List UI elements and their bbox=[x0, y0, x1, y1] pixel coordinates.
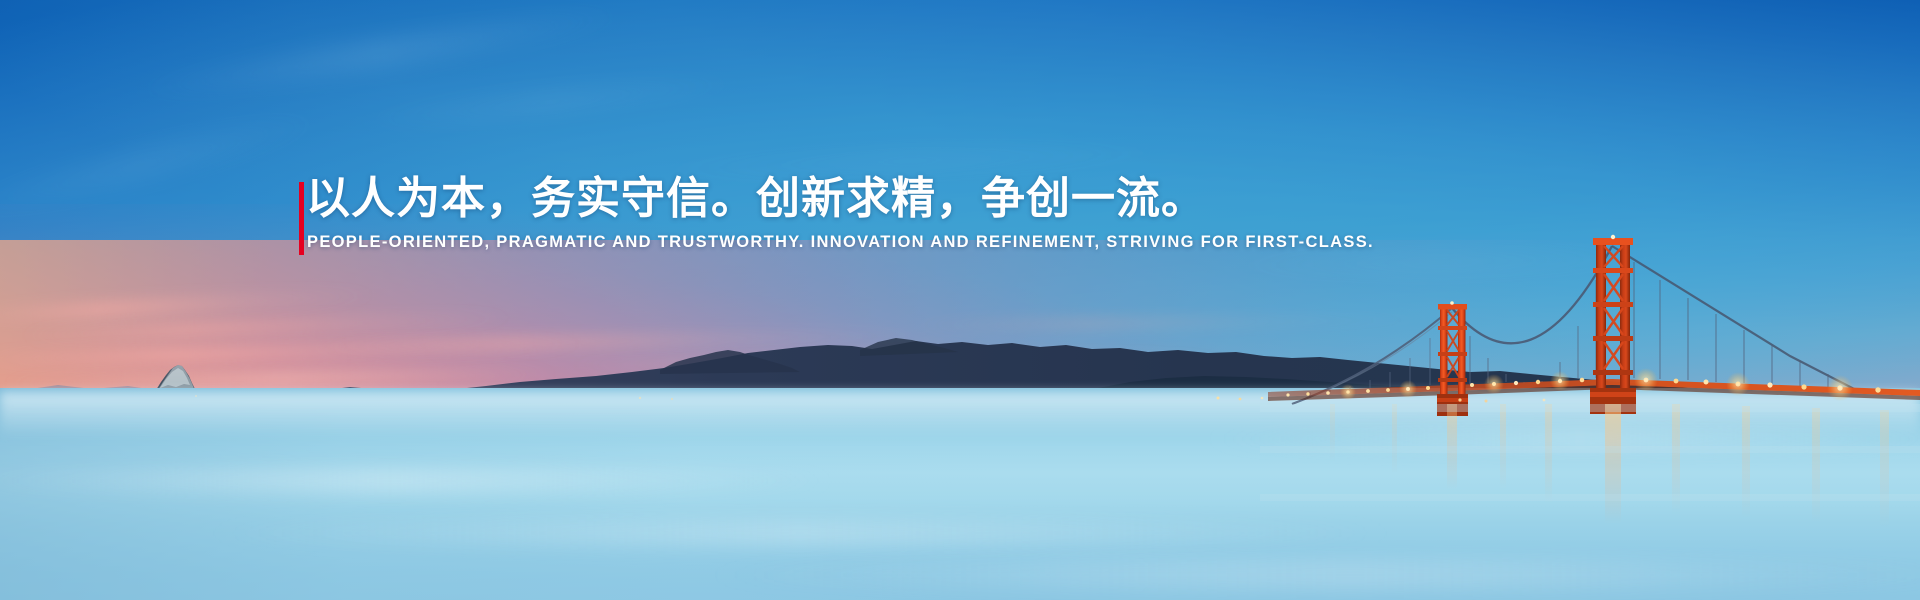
golden-gate-bridge bbox=[0, 0, 1920, 600]
bridge-lights bbox=[1286, 235, 1880, 401]
banner-subheadline: PEOPLE-ORIENTED, PRAGMATIC AND TRUSTWORT… bbox=[307, 233, 1374, 252]
red-accent-bar bbox=[299, 182, 304, 255]
hero-banner: 以人为本，务实守信。创新求精，争创一流。 PEOPLE-ORIENTED, PR… bbox=[0, 0, 1920, 600]
bridge-reflections bbox=[1260, 404, 1920, 528]
banner-headline: 以人为本，务实守信。创新求精，争创一流。 bbox=[306, 176, 1374, 223]
bridge-tower-far bbox=[1437, 304, 1468, 416]
slogan-block: 以人为本，务实守信。创新求精，争创一流。 PEOPLE-ORIENTED, PR… bbox=[281, 176, 1374, 252]
